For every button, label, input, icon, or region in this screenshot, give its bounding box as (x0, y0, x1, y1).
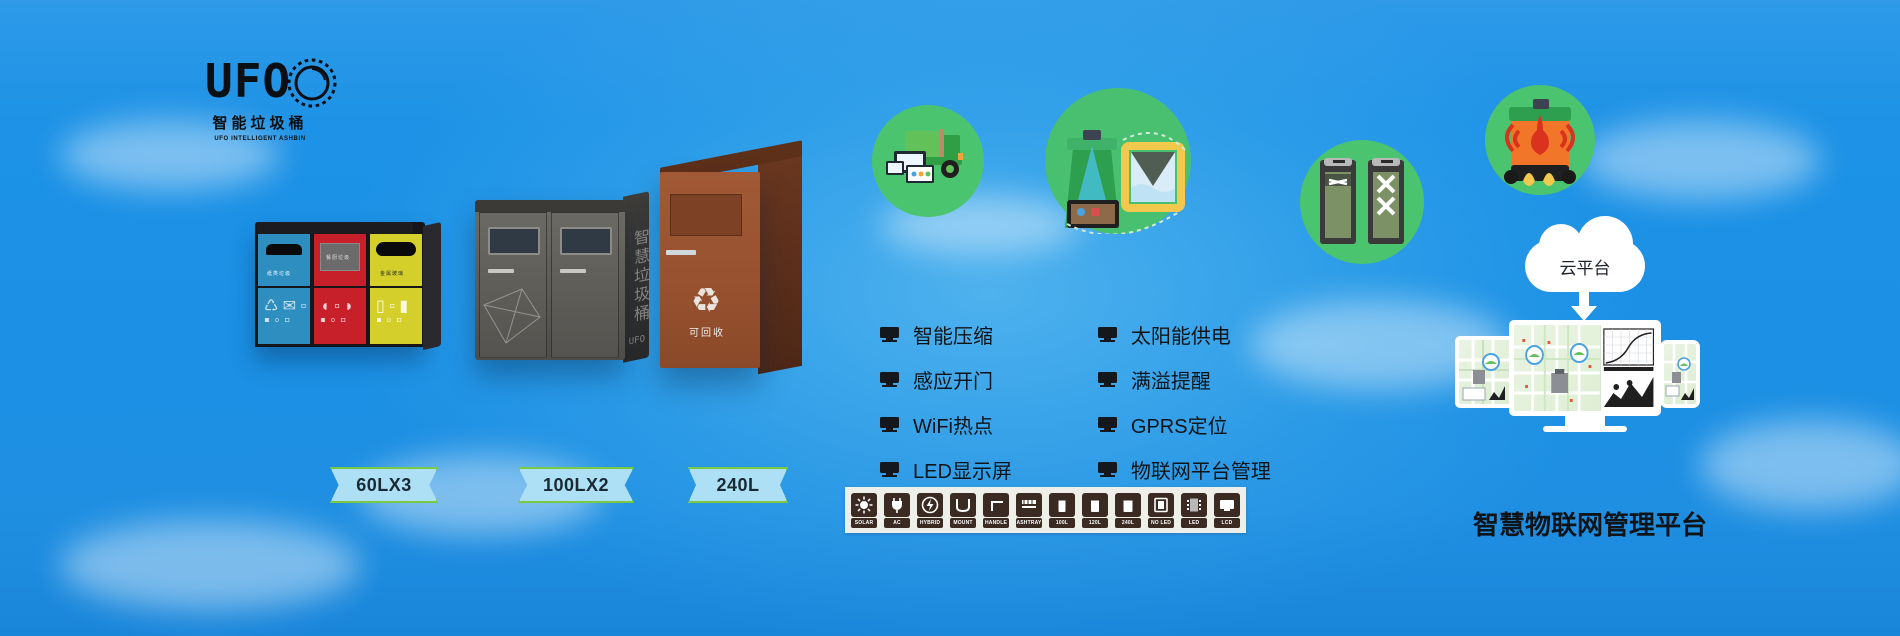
monitor-icon (880, 327, 899, 342)
spec-label: 120L (1082, 518, 1108, 528)
monitor-screen (1514, 325, 1656, 411)
device-desktop-monitor (1509, 320, 1661, 416)
wall-mount-icon (950, 493, 976, 517)
spec-label: 240L (1115, 518, 1141, 528)
spec-item-ac: AC (884, 493, 910, 528)
compartment-label: 金属玻璃 (380, 270, 404, 277)
bin-display (670, 194, 742, 236)
bin-card-slot (560, 269, 586, 273)
logo-wordmark: UFO (205, 58, 291, 104)
feature-item: 智能压缩 (880, 320, 1012, 349)
recycle-icon: ♻ (686, 284, 726, 322)
bin-100l-icon (1049, 493, 1075, 517)
monitor-icon (1098, 462, 1117, 477)
bin-lid (257, 222, 413, 234)
monitor-icon (880, 417, 899, 432)
cloud-decoration (1580, 120, 1820, 200)
bin-120l-icon (1082, 493, 1108, 517)
bin-graphic (482, 283, 546, 355)
spec-item-handle: HANDLE (983, 493, 1009, 528)
cloud-decoration (60, 520, 360, 610)
spec-label: LCD (1214, 518, 1240, 528)
logo-name-en: UFO INTELLIGENT ASHBIN (205, 136, 315, 142)
fire-alarm-bin-icon (1485, 85, 1595, 195)
bin-sensor-fill-icon (1045, 88, 1191, 234)
bin-side-panel (423, 222, 441, 350)
feature-item: LED显示屏 (880, 455, 1012, 484)
compartment-metal-glass: 金属玻璃 (370, 234, 422, 286)
monitor-icon (880, 372, 899, 387)
spec-item-no-led: NO LED (1148, 493, 1174, 528)
spec-label: AC (884, 518, 910, 528)
phone-screen (1664, 344, 1696, 404)
compartment-label: 纸类垃圾 (267, 270, 291, 277)
bin-240l-icon (1115, 493, 1141, 517)
bin-side-badge: UFO (629, 334, 645, 347)
bin-side-panel: 智慧垃圾桶 UFO (623, 191, 649, 363)
spec-label: NO LED (1148, 518, 1174, 528)
device-smartphone (1660, 340, 1700, 408)
dashboard-charts (1600, 325, 1656, 411)
feature-label: 智能压缩 (913, 320, 993, 349)
monitor-icon (1098, 327, 1117, 342)
monitor-icon (1098, 417, 1117, 432)
spec-label: HYBRID (917, 518, 943, 528)
spec-label: 100L (1049, 518, 1075, 528)
compartment-lower-metal-glass: ▯ ▫ ▮▪ ◦ ▫ (370, 288, 422, 344)
collection-truck-icon (872, 105, 984, 217)
bin-door-right (551, 212, 619, 358)
feature-label: LED显示屏 (913, 455, 1012, 484)
spec-label: HANDLE (983, 518, 1009, 528)
lcd-icon (1214, 493, 1240, 517)
product-bin-2-compartment-smart: 智慧垃圾桶 UFO (475, 200, 625, 360)
bin-recycle-label: 可回收 (676, 324, 738, 339)
capacity-label: 240L (716, 475, 759, 496)
spec-item-lcd: LCD (1214, 493, 1240, 528)
dashboard-map (1514, 325, 1600, 411)
product-bin-3-compartment: 纸类垃圾 餐厨垃圾 金属玻璃 ♺ ✉ ▫▪ ◦ ▫ ◖ ▫ ◗▪ ◦ ▫ ▯ ▫… (255, 222, 425, 347)
capacity-banner-60lx3: 60LX3 (330, 467, 438, 503)
feature-label: 物联网平台管理 (1131, 455, 1271, 484)
monitor-base (1543, 426, 1627, 432)
bin-side-panel (758, 154, 802, 375)
capacity-label: 60LX3 (356, 475, 412, 496)
spec-label: MOUNT (950, 518, 976, 528)
spec-item-mount: MOUNT (950, 493, 976, 528)
ufo-ring-icon (287, 58, 337, 108)
sun-icon (851, 493, 877, 517)
promo-banner: UFO 智能垃圾桶 UFO INTELLIGENT ASHBIN 纸类垃圾 餐厨… (0, 0, 1900, 636)
platform-caption: 智慧物联网管理平台 (1410, 505, 1770, 542)
cloud-decoration (1700, 420, 1900, 510)
monitor-icon (1098, 372, 1117, 387)
device-tablet (1455, 336, 1517, 408)
compartment-paper: 纸类垃圾 (258, 234, 310, 286)
ashtray-icon (1016, 493, 1042, 517)
compartment-lower-paper: ♺ ✉ ▫▪ ◦ ▫ (258, 288, 310, 344)
feature-label: 太阳能供电 (1131, 320, 1231, 349)
bin-card-slot (488, 269, 514, 273)
bin-lid (475, 200, 625, 212)
hybrid-bolt-icon (917, 493, 943, 517)
circle-smart-collection (872, 105, 984, 217)
iot-platform-illustration: 云平台 (1455, 240, 1715, 440)
compartment-label: 餐厨垃圾 (326, 254, 350, 261)
logo-name-cn: 智能垃圾桶 (205, 112, 315, 133)
feature-label: WiFi热点 (913, 410, 993, 439)
feature-label: 感应开门 (913, 365, 993, 394)
bin-card-slot (666, 250, 696, 255)
feature-list: 智能压缩 感应开门 WiFi热点 LED显示屏 太阳能供电 满溢提醒 (880, 320, 1271, 484)
feature-column-right: 太阳能供电 满溢提醒 GPRS定位 物联网平台管理 (1098, 320, 1271, 484)
feature-label: GPRS定位 (1131, 410, 1228, 439)
bin-display (560, 227, 612, 255)
no-led-icon (1148, 493, 1174, 517)
spec-item-ashtray: ASHTRAY (1016, 493, 1042, 528)
feature-column-left: 智能压缩 感应开门 WiFi热点 LED显示屏 (880, 320, 1012, 484)
capacity-banner-100lx2: 100LX2 (518, 467, 634, 503)
compartment-kitchen: 餐厨垃圾 (314, 234, 366, 286)
spec-item-led: LED (1181, 493, 1207, 528)
spec-item-100l: 100L (1049, 493, 1075, 528)
brand-logo: UFO 智能垃圾桶 UFO INTELLIGENT ASHBIN (205, 58, 315, 142)
spec-label: LED (1181, 518, 1207, 528)
feature-item: WiFi热点 (880, 410, 1012, 439)
feature-item: 感应开门 (880, 365, 1012, 394)
spec-item-240l: 240L (1115, 493, 1141, 528)
product-bin-single-brown: ♻ 可回收 (660, 172, 760, 368)
feature-item: GPRS定位 (1098, 410, 1271, 439)
feature-item: 太阳能供电 (1098, 320, 1271, 349)
circle-compaction (1300, 140, 1424, 264)
tablet-screen (1459, 340, 1513, 404)
spec-item-hybrid: HYBRID (917, 493, 943, 528)
spec-label: ASHTRAY (1016, 518, 1042, 528)
handle-icon (983, 493, 1009, 517)
led-icon (1181, 493, 1207, 517)
feature-label: 满溢提醒 (1131, 365, 1211, 394)
plug-icon (884, 493, 910, 517)
spec-label: SOLAR (851, 518, 877, 528)
compartment-lower-kitchen: ◖ ▫ ◗▪ ◦ ▫ (314, 288, 366, 344)
monitor-icon (880, 462, 899, 477)
bin-door-left (479, 212, 547, 358)
bin-display (488, 227, 540, 255)
bin-side-text: 智慧垃圾桶 (627, 227, 651, 327)
cloud-platform-label: 云平台 (1455, 254, 1715, 279)
capacity-banner-240l: 240L (688, 467, 788, 503)
arrow-down-icon (1569, 290, 1599, 322)
circle-fire-alarm (1485, 85, 1595, 195)
capacity-label: 100LX2 (543, 475, 609, 496)
spec-item-solar: SOLAR (851, 493, 877, 528)
spec-item-120l: 120L (1082, 493, 1108, 528)
feature-item: 满溢提醒 (1098, 365, 1271, 394)
feature-item: 物联网平台管理 (1098, 455, 1271, 484)
circle-fill-sensing (1045, 88, 1191, 234)
twin-compaction-bins-icon (1300, 140, 1424, 264)
spec-icon-strip: SOLAR AC HYBRID MOUNT HANDLE (845, 487, 1246, 533)
